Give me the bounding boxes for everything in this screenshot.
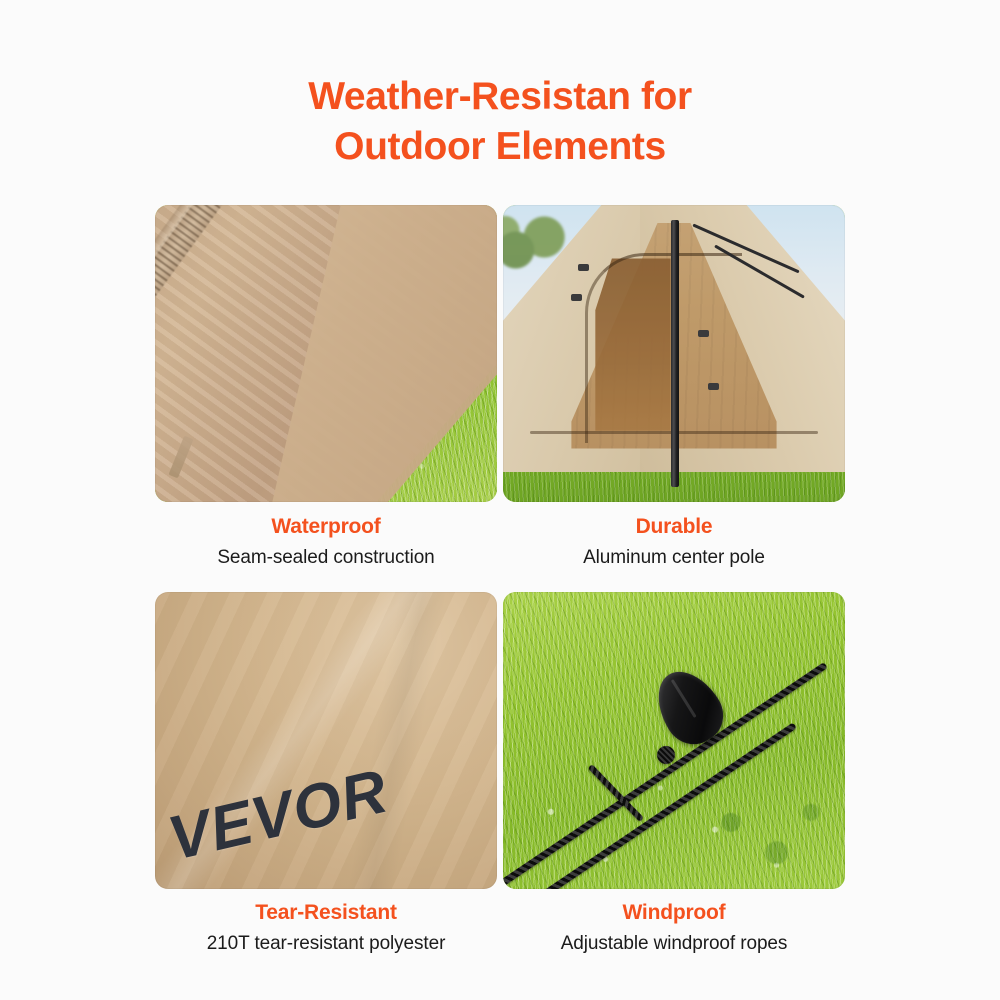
feature-caption-waterproof: Waterproof Seam-sealed construction	[155, 502, 497, 592]
feature-subtitle: Seam-sealed construction	[155, 540, 497, 571]
feature-caption-windproof: Windproof Adjustable windproof ropes	[503, 888, 845, 978]
feature-image-windproof	[503, 592, 845, 889]
feature-title: Windproof	[503, 900, 845, 926]
feature-title: Waterproof	[155, 514, 497, 540]
feature-image-waterproof	[155, 205, 497, 502]
page-title-line-1: Weather-Resistan for	[0, 72, 1000, 122]
feature-subtitle: Aluminum center pole	[503, 540, 845, 571]
feature-grid-page: Weather-Resistan for Outdoor Elements	[0, 0, 1000, 1000]
aluminum-center-pole	[671, 220, 679, 487]
page-title-line-2: Outdoor Elements	[0, 122, 1000, 172]
feature-grid: Waterproof Seam-sealed construction Dura…	[155, 205, 845, 975]
tent-door-arc	[585, 253, 742, 443]
feature-caption-durable: Durable Aluminum center pole	[503, 502, 845, 592]
feature-caption-tear-resistant: Tear-Resistant 210T tear-resistant polye…	[155, 888, 497, 978]
tent-buckle	[708, 383, 719, 390]
tent-buckle	[578, 264, 589, 271]
feature-image-durable	[503, 205, 845, 502]
page-title: Weather-Resistan for Outdoor Elements	[0, 72, 1000, 172]
feature-image-tear-resistant: VEVOR	[155, 592, 497, 889]
feature-subtitle: 210T tear-resistant polyester	[155, 926, 497, 957]
clover-patch	[688, 782, 832, 883]
feature-title: Durable	[503, 514, 845, 540]
tent-buckle	[571, 294, 582, 301]
tent-buckle	[698, 330, 709, 337]
feature-subtitle: Adjustable windproof ropes	[503, 926, 845, 957]
feature-title: Tear-Resistant	[155, 900, 497, 926]
